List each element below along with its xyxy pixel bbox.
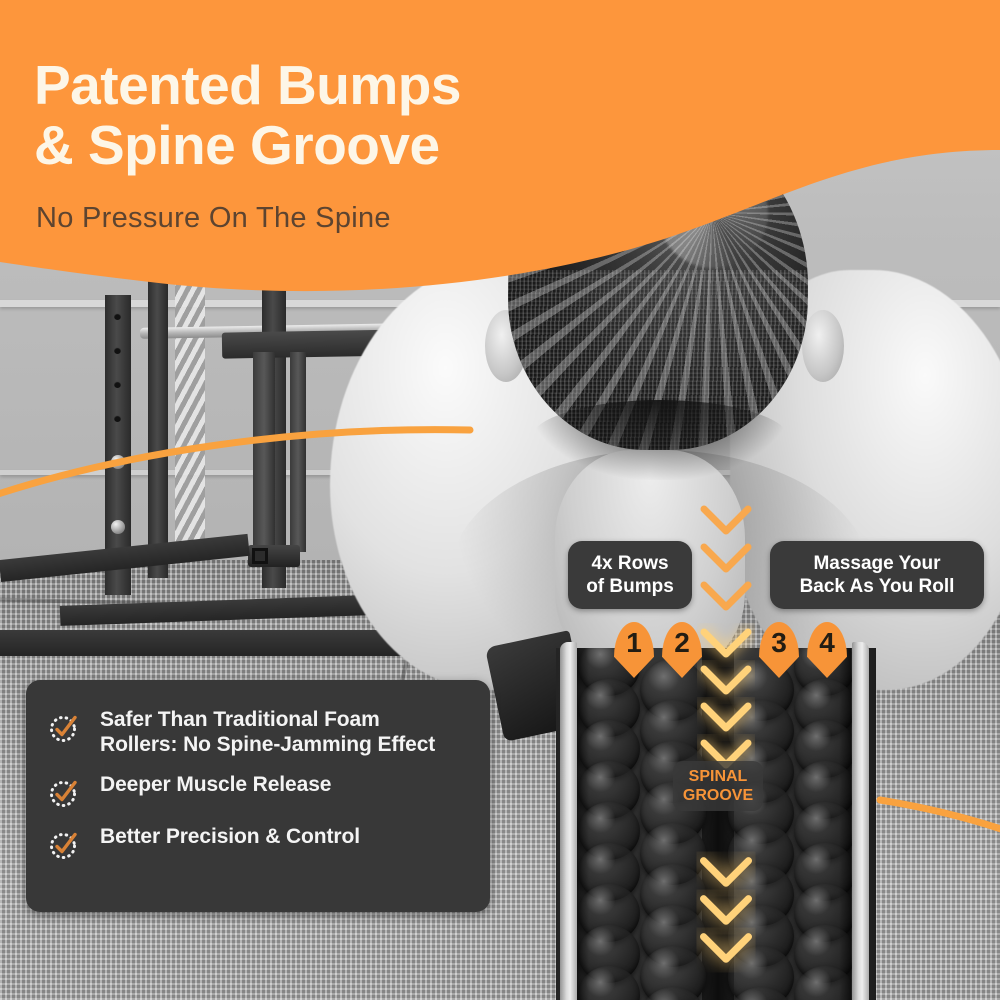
list-item: Better Precision & Control: [48, 825, 468, 861]
callout-massage-as-you-roll[interactable]: Massage Your Back As You Roll: [770, 541, 984, 609]
climbing-rope: [175, 276, 205, 546]
ear: [802, 310, 844, 382]
callout-line-2: of Bumps: [584, 575, 676, 598]
weight-bench-leg: [253, 352, 275, 547]
pin-number: 1: [626, 622, 642, 657]
chevron-down-icon: [696, 928, 755, 973]
list-item: Deeper Muscle Release: [48, 773, 468, 809]
bump-row-marker-2[interactable]: 2: [662, 622, 702, 678]
groove-label-line-2: GROOVE: [677, 786, 759, 805]
feature-text: Deeper Muscle Release: [100, 773, 331, 798]
bump-row-marker-3[interactable]: 3: [759, 622, 799, 678]
spinal-groove-label: SPINAL GROOVE: [673, 761, 763, 811]
header-band: Patented Bumps & Spine Groove No Pressur…: [0, 0, 1000, 300]
groove-label-line-1: SPINAL: [677, 767, 759, 786]
product-infographic: Patented Bumps & Spine Groove No Pressur…: [0, 0, 1000, 1000]
roller-side-rim: [852, 642, 869, 1000]
bump-row-marker-1[interactable]: 1: [614, 622, 654, 678]
page-subtitle: No Pressure On The Spine: [36, 202, 391, 235]
callout-line-1: Massage Your: [786, 552, 968, 575]
title-line-2: & Spine Groove: [34, 116, 654, 176]
check-circle-dotted-icon: [48, 710, 82, 744]
feature-list-panel: Safer Than Traditional Foam Rollers: No …: [26, 680, 490, 912]
chevron-down-icon: [697, 576, 755, 620]
feature-text: Safer Than Traditional Foam Rollers: No …: [100, 708, 450, 757]
pin-number: 4: [819, 622, 835, 657]
check-circle-dotted-icon: [48, 775, 82, 809]
weight-bench-foot: [252, 548, 268, 564]
title-line-1: Patented Bumps: [34, 56, 654, 116]
callout-line-1: 4x Rows: [584, 552, 676, 575]
callout-rows-of-bumps[interactable]: 4x Rows of Bumps: [568, 541, 692, 609]
pin-number: 2: [674, 622, 690, 657]
roller-side-rim: [560, 642, 577, 1000]
feature-text: Better Precision & Control: [100, 825, 360, 850]
page-title: Patented Bumps & Spine Groove: [34, 56, 654, 176]
callout-line-2: Back As You Roll: [786, 575, 968, 598]
weight-bench-leg: [290, 352, 306, 552]
pin-number: 3: [771, 622, 787, 657]
check-circle-dotted-icon: [48, 827, 82, 861]
bump-row-marker-4[interactable]: 4: [807, 622, 847, 678]
squat-rack-upright: [148, 278, 168, 578]
hairline-shadow: [530, 400, 790, 480]
list-item: Safer Than Traditional Foam Rollers: No …: [48, 708, 468, 757]
